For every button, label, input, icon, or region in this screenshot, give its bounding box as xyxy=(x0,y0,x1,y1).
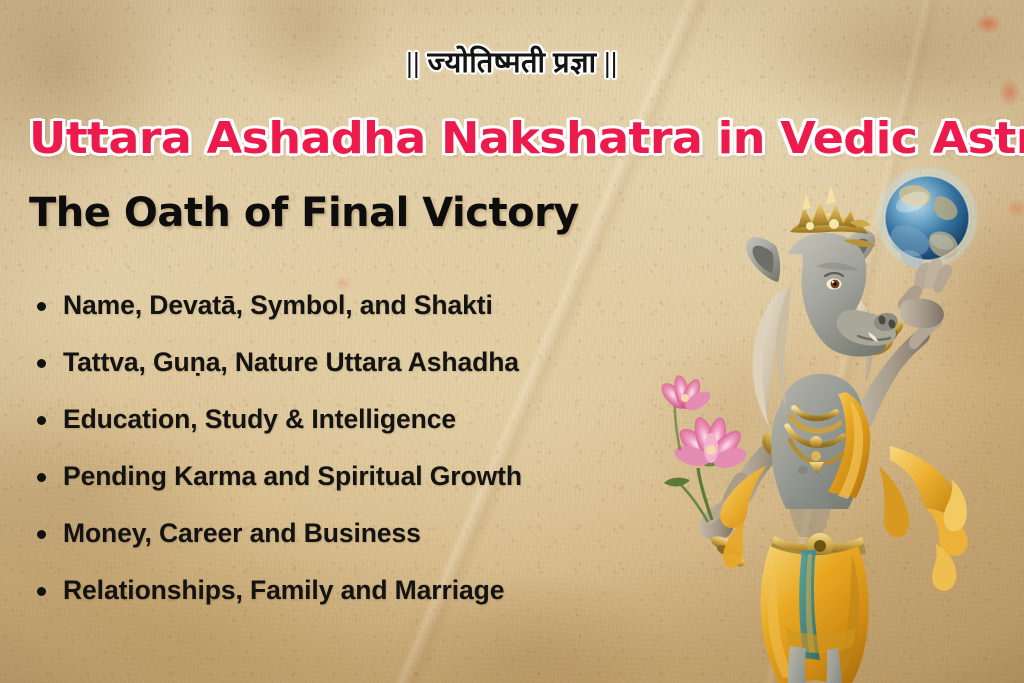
list-item: Relationships, Family and Marriage xyxy=(30,562,670,619)
nakshatra-article-banner: || ज्योतिष्मती प्रज्ञा || Uttara Ashadha… xyxy=(0,0,1024,683)
list-item: Pending Karma and Spiritual Growth xyxy=(30,448,670,505)
list-item: Education, Study & Intelligence xyxy=(30,391,670,448)
sash-ribbons-right xyxy=(879,446,968,591)
bullet-dot-icon xyxy=(37,587,46,596)
varaha-illustration xyxy=(640,150,1024,683)
earth-globe-graphic xyxy=(875,166,979,270)
list-item-label: Education, Study & Intelligence xyxy=(63,405,456,434)
list-item-label: Tattva, Guṇa, Nature Uttara Ashadha xyxy=(63,348,519,377)
bullet-dot-icon xyxy=(37,473,46,482)
list-item-label: Relationships, Family and Marriage xyxy=(63,576,504,605)
list-item-label: Money, Career and Business xyxy=(63,519,421,548)
sanskrit-heading: || ज्योतिष्मती प्रज्ञा || xyxy=(0,49,1024,78)
bullet-dot-icon xyxy=(37,359,46,368)
dhoti-garment xyxy=(761,546,869,683)
bullet-dot-icon xyxy=(37,302,46,311)
list-item-label: Name, Devatā, Symbol, and Shakti xyxy=(63,291,493,320)
list-item: Money, Career and Business xyxy=(30,505,670,562)
list-item: Tattva, Guṇa, Nature Uttara Ashadha xyxy=(30,334,670,391)
topic-list: Name, Devatā, Symbol, and Shakti Tattva,… xyxy=(30,277,670,619)
list-item-label: Pending Karma and Spiritual Growth xyxy=(63,462,522,491)
bullet-dot-icon xyxy=(37,416,46,425)
bullet-dot-icon xyxy=(37,530,46,539)
page-subtitle: The Oath of Final Victory xyxy=(29,192,579,234)
page-title: Uttara Ashadha Nakshatra in Vedic Astrol… xyxy=(29,117,1024,162)
list-item: Name, Devatā, Symbol, and Shakti xyxy=(30,277,670,334)
